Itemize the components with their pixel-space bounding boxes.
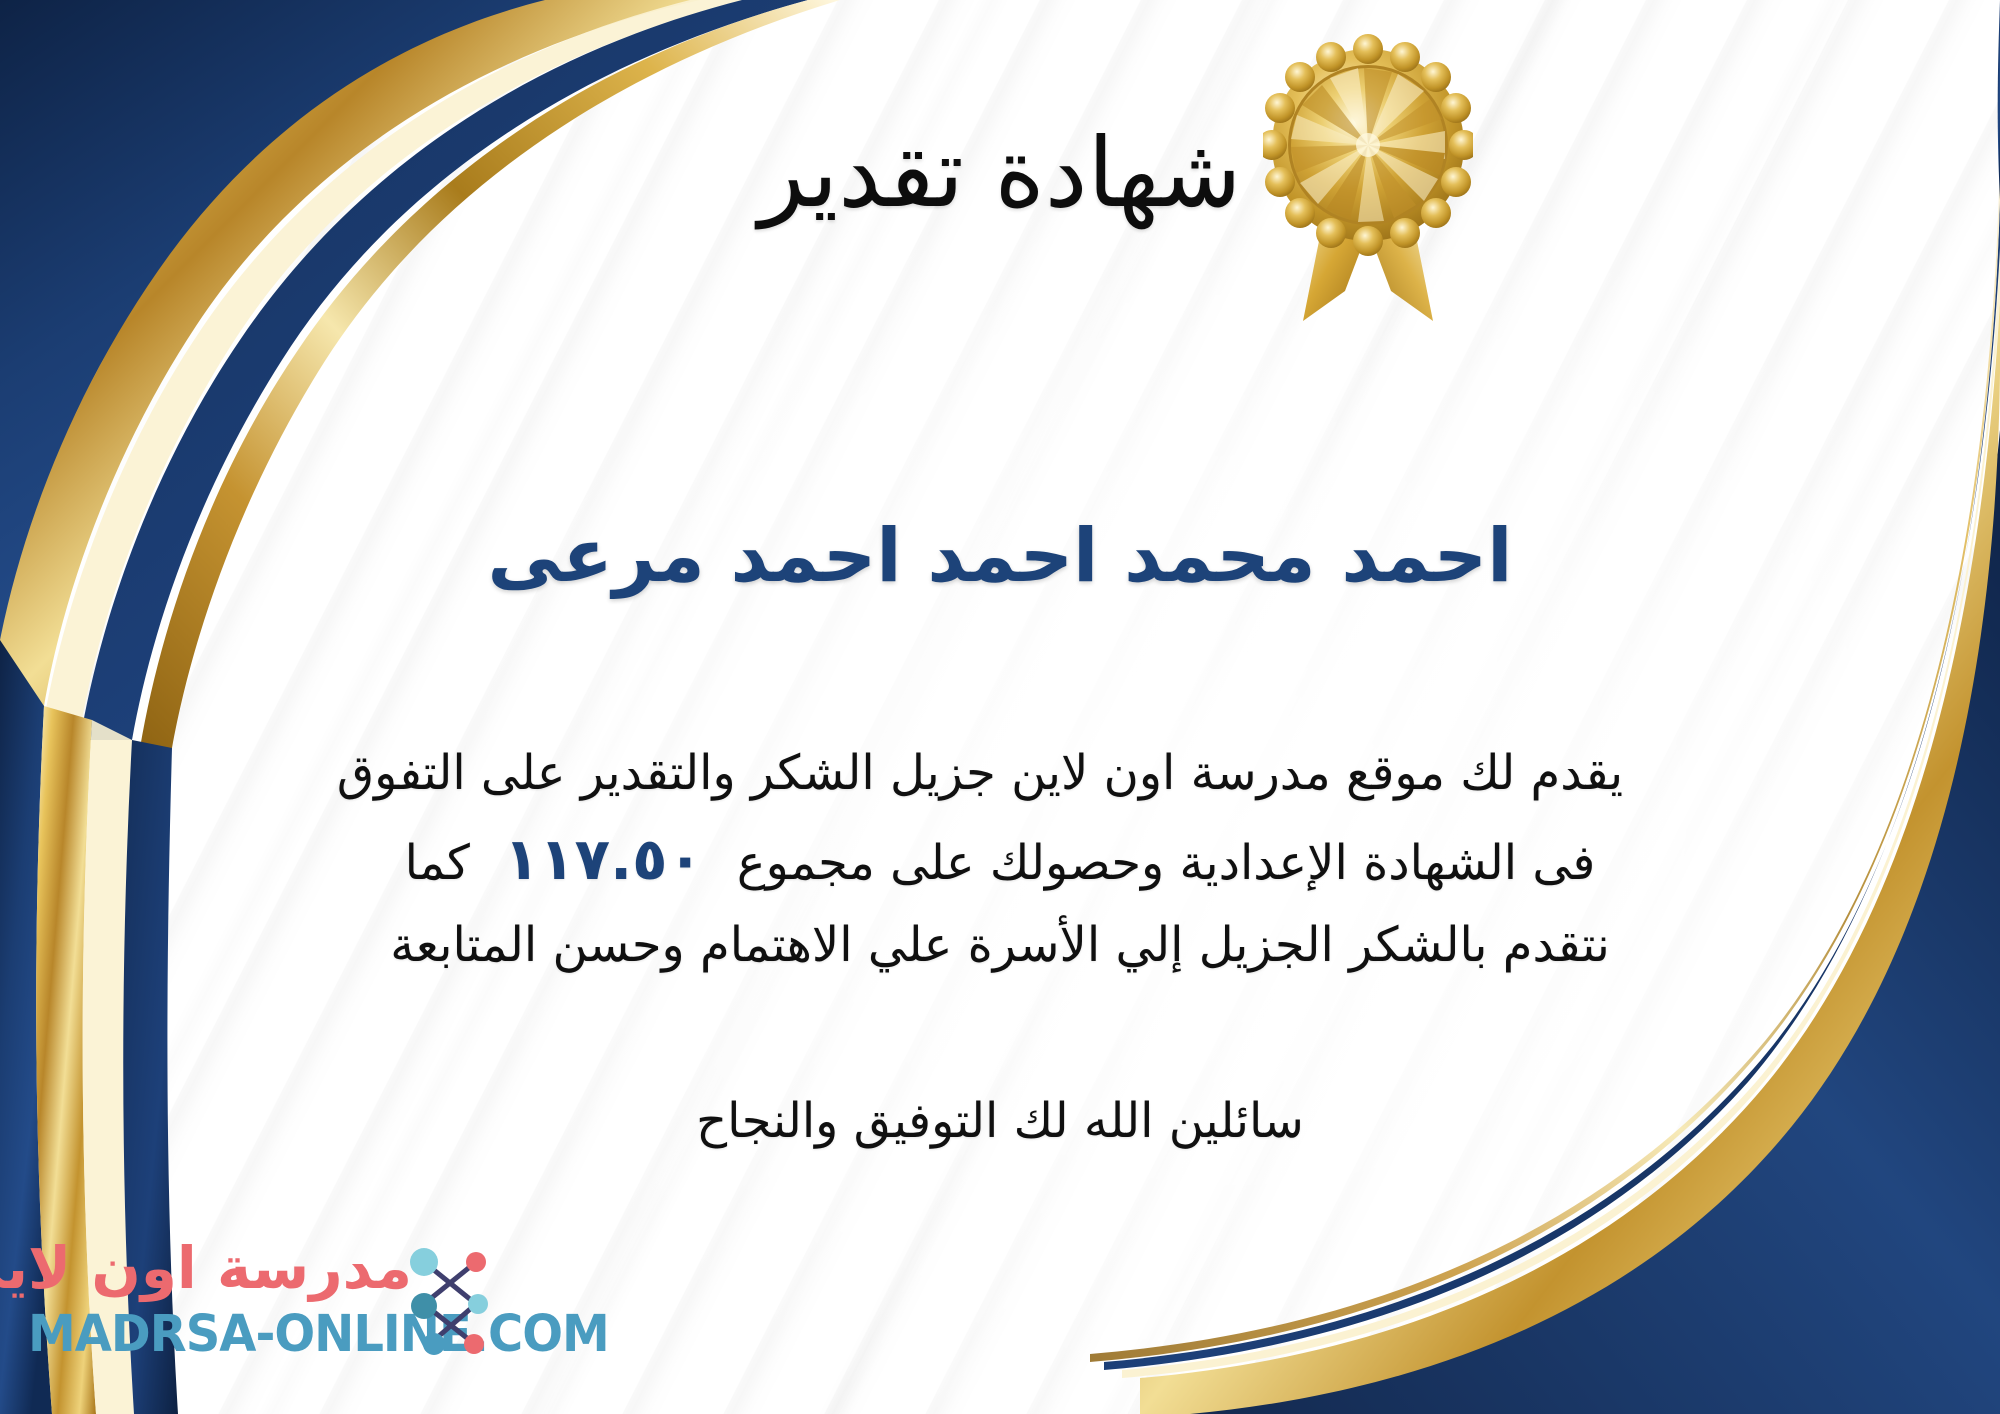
- body-line-2: فى الشهادة الإعدادية وحصولك على مجموع١١٧…: [190, 813, 1810, 907]
- logo-url-text: MADRSA-ONLINE.COM: [28, 1305, 609, 1364]
- body-line-3: نتقدم بالشكر الجزيل إلي الأسرة علي الاهت…: [190, 907, 1810, 985]
- logo-arabic-name: مدرسة اون لاين: [0, 1234, 412, 1302]
- certificate-canvas: شهادة تقدير احمد محمد احمد احمد مرعى يقد…: [0, 0, 2000, 1414]
- closing-line: سائلين الله لك التوفيق والنجاح: [150, 1085, 1850, 1157]
- body-line-2-suffix: كما: [405, 835, 470, 891]
- page-title: شهادة تقدير: [150, 118, 1850, 228]
- certificate-body: يقدم لك موقع مدرسة اون لاين جزيل الشكر و…: [190, 735, 1810, 984]
- network-nodes-icon: [402, 1238, 498, 1362]
- body-line-1: يقدم لك موقع مدرسة اون لاين جزيل الشكر و…: [190, 735, 1810, 813]
- certificate-content: شهادة تقدير احمد محمد احمد احمد مرعى يقد…: [150, 0, 1850, 1414]
- recipient-name: احمد محمد احمد احمد مرعى: [150, 510, 1850, 603]
- site-logo[interactable]: مدرسة اون لاين MADRSA-ONLINE.COM: [22, 1232, 492, 1382]
- score-value: ١١٧.٥٠: [470, 825, 737, 893]
- body-line-2-prefix: فى الشهادة الإعدادية وحصولك على مجموع: [737, 835, 1595, 891]
